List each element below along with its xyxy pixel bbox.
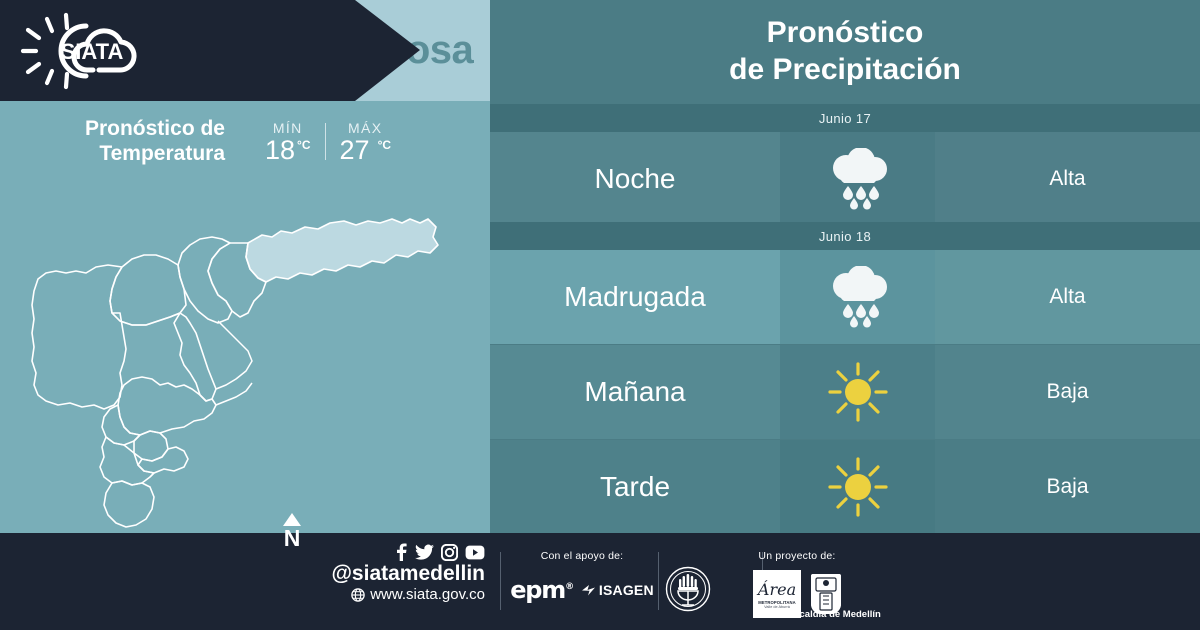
forecast-level-cell: Baja	[935, 440, 1200, 534]
facebook-icon[interactable]	[394, 543, 408, 561]
min-label: MÍN	[273, 120, 303, 136]
forecast-period-label: Madrugada	[564, 281, 706, 313]
rain-cloud-icon	[821, 266, 895, 328]
north-arrow-label: N	[284, 527, 301, 550]
support-block: Con el apoyo de: epm® ISAGEN	[512, 550, 652, 604]
temperature-title-line1: Pronóstico de	[85, 117, 225, 142]
epm-logo: epm®	[510, 576, 573, 604]
globe-icon	[351, 588, 365, 602]
forecast-level-label: Alta	[1049, 167, 1085, 191]
support-logos: epm® ISAGEN	[512, 576, 652, 604]
youtube-icon[interactable]	[465, 545, 485, 560]
forecast-period-cell: Tarde	[490, 440, 780, 534]
temperature-block: Pronóstico de Temperatura MÍN 18°C MÁX 2…	[0, 101, 490, 183]
rain-cloud-icon	[821, 148, 895, 210]
max-reading: 27°C	[340, 137, 392, 164]
siata-logo-text: SIATA	[61, 39, 124, 64]
amva-script: Área	[758, 582, 796, 598]
forecast-level-label: Baja	[1046, 475, 1088, 499]
forecast-level-cell: Alta	[935, 250, 1200, 344]
map-svg	[0, 183, 490, 533]
forecast-row[interactable]: Madrugada Alta	[490, 250, 1200, 344]
forecast-period-cell: Mañana	[490, 345, 780, 439]
support-caption: Con el apoyo de:	[512, 550, 652, 562]
temperature-min: MÍN 18°C	[251, 120, 325, 164]
map-region-central[interactable]	[174, 313, 216, 401]
footer-divider	[658, 552, 659, 610]
date-band-junio-18: Junio 18	[490, 222, 1200, 250]
sun-icon	[825, 359, 891, 425]
logo-chevron: SIATA	[0, 0, 420, 101]
north-arrow: N	[278, 513, 306, 563]
forecast-period-label: Noche	[595, 163, 676, 195]
project-block: Un proyecto de: Área METROPOLITANA Valle…	[712, 550, 882, 618]
website-url: www.siata.gov.co	[370, 586, 485, 604]
alcaldia-logo	[811, 574, 841, 614]
isagen-mark-icon	[582, 584, 597, 597]
epm-logo-text: epm	[510, 576, 565, 604]
forecast-period-cell: Madrugada	[490, 250, 780, 344]
max-value: 27	[340, 137, 370, 164]
forecast-level-cell: Alta	[935, 132, 1200, 226]
forecast-row[interactable]: Noche Alta	[490, 132, 1200, 226]
forecast-level-cell: Baja	[935, 345, 1200, 439]
map-region-northwest[interactable]	[32, 265, 126, 409]
forecast-period-label: Tarde	[600, 471, 670, 503]
alcaldia-label: Alcaldía de Medellín	[790, 609, 881, 620]
social-icons	[394, 543, 485, 561]
forecast-row[interactable]: Tarde Baj	[490, 440, 1200, 534]
social-handle[interactable]: @siatamedellin	[331, 562, 485, 586]
temperature-title: Pronóstico de Temperatura	[85, 117, 225, 167]
forecast-period-cell: Noche	[490, 132, 780, 226]
map-region-medellin[interactable]	[118, 377, 216, 435]
map-region-barbosa[interactable]	[246, 219, 438, 282]
precipitation-title-line2: de Precipitación	[729, 52, 961, 89]
map-region-copacabana[interactable]	[178, 237, 232, 323]
city-title-wrap: Barbosa	[420, 0, 490, 101]
temperature-title-line2: Temperatura	[85, 142, 225, 167]
footer-divider	[500, 552, 501, 610]
min-reading: 18°C	[265, 137, 311, 164]
min-unit: °C	[297, 139, 310, 151]
date-band-junio-17: Junio 17	[490, 104, 1200, 132]
min-value: 18	[265, 137, 295, 164]
instagram-icon[interactable]	[441, 544, 458, 561]
infographic-root: Barbosa SIATA Pronóstic	[0, 0, 1200, 630]
max-label: MÁX	[348, 120, 383, 136]
temperature-max: MÁX 27°C	[326, 120, 406, 164]
forecast-level-label: Alta	[1049, 285, 1085, 309]
udea-seal-icon	[665, 566, 711, 612]
forecast-icon-cell	[780, 250, 935, 344]
left-panel: Barbosa SIATA Pronóstic	[0, 0, 490, 533]
alcaldia-shield-icon	[811, 574, 841, 614]
project-caption: Un proyecto de:	[712, 550, 882, 562]
max-unit: °C	[378, 139, 391, 151]
website-line[interactable]: www.siata.gov.co	[351, 586, 485, 604]
forecast-icon-cell	[780, 440, 935, 534]
precipitation-title-line1: Pronóstico	[767, 15, 924, 52]
forecast-icon-cell	[780, 345, 935, 439]
precipitation-title: Pronóstico de Precipitación	[490, 0, 1200, 104]
sun-icon	[825, 454, 891, 520]
footer-social-block: @siatamedellin www.siata.gov.co	[325, 543, 485, 604]
forecast-period-label: Mañana	[584, 376, 685, 408]
siata-logo-icon: SIATA	[14, 12, 149, 90]
twitter-icon[interactable]	[415, 544, 434, 561]
valley-map: N	[0, 183, 490, 533]
temperature-values: MÍN 18°C MÁX 27°C	[251, 120, 405, 164]
forecast-level-label: Baja	[1046, 380, 1088, 404]
amva-line2: Valle de Aburrá	[764, 605, 790, 609]
isagen-logo-text: ISAGEN	[599, 582, 654, 598]
map-region-sabaneta[interactable]	[138, 447, 188, 473]
isagen-logo: ISAGEN	[582, 582, 654, 598]
precipitation-panel: Pronóstico de Precipitación Junio 17 Noc…	[490, 0, 1200, 533]
forecast-row[interactable]: Mañana Ba	[490, 345, 1200, 439]
forecast-icon-cell	[780, 132, 935, 226]
map-region-caldas[interactable]	[104, 481, 154, 527]
